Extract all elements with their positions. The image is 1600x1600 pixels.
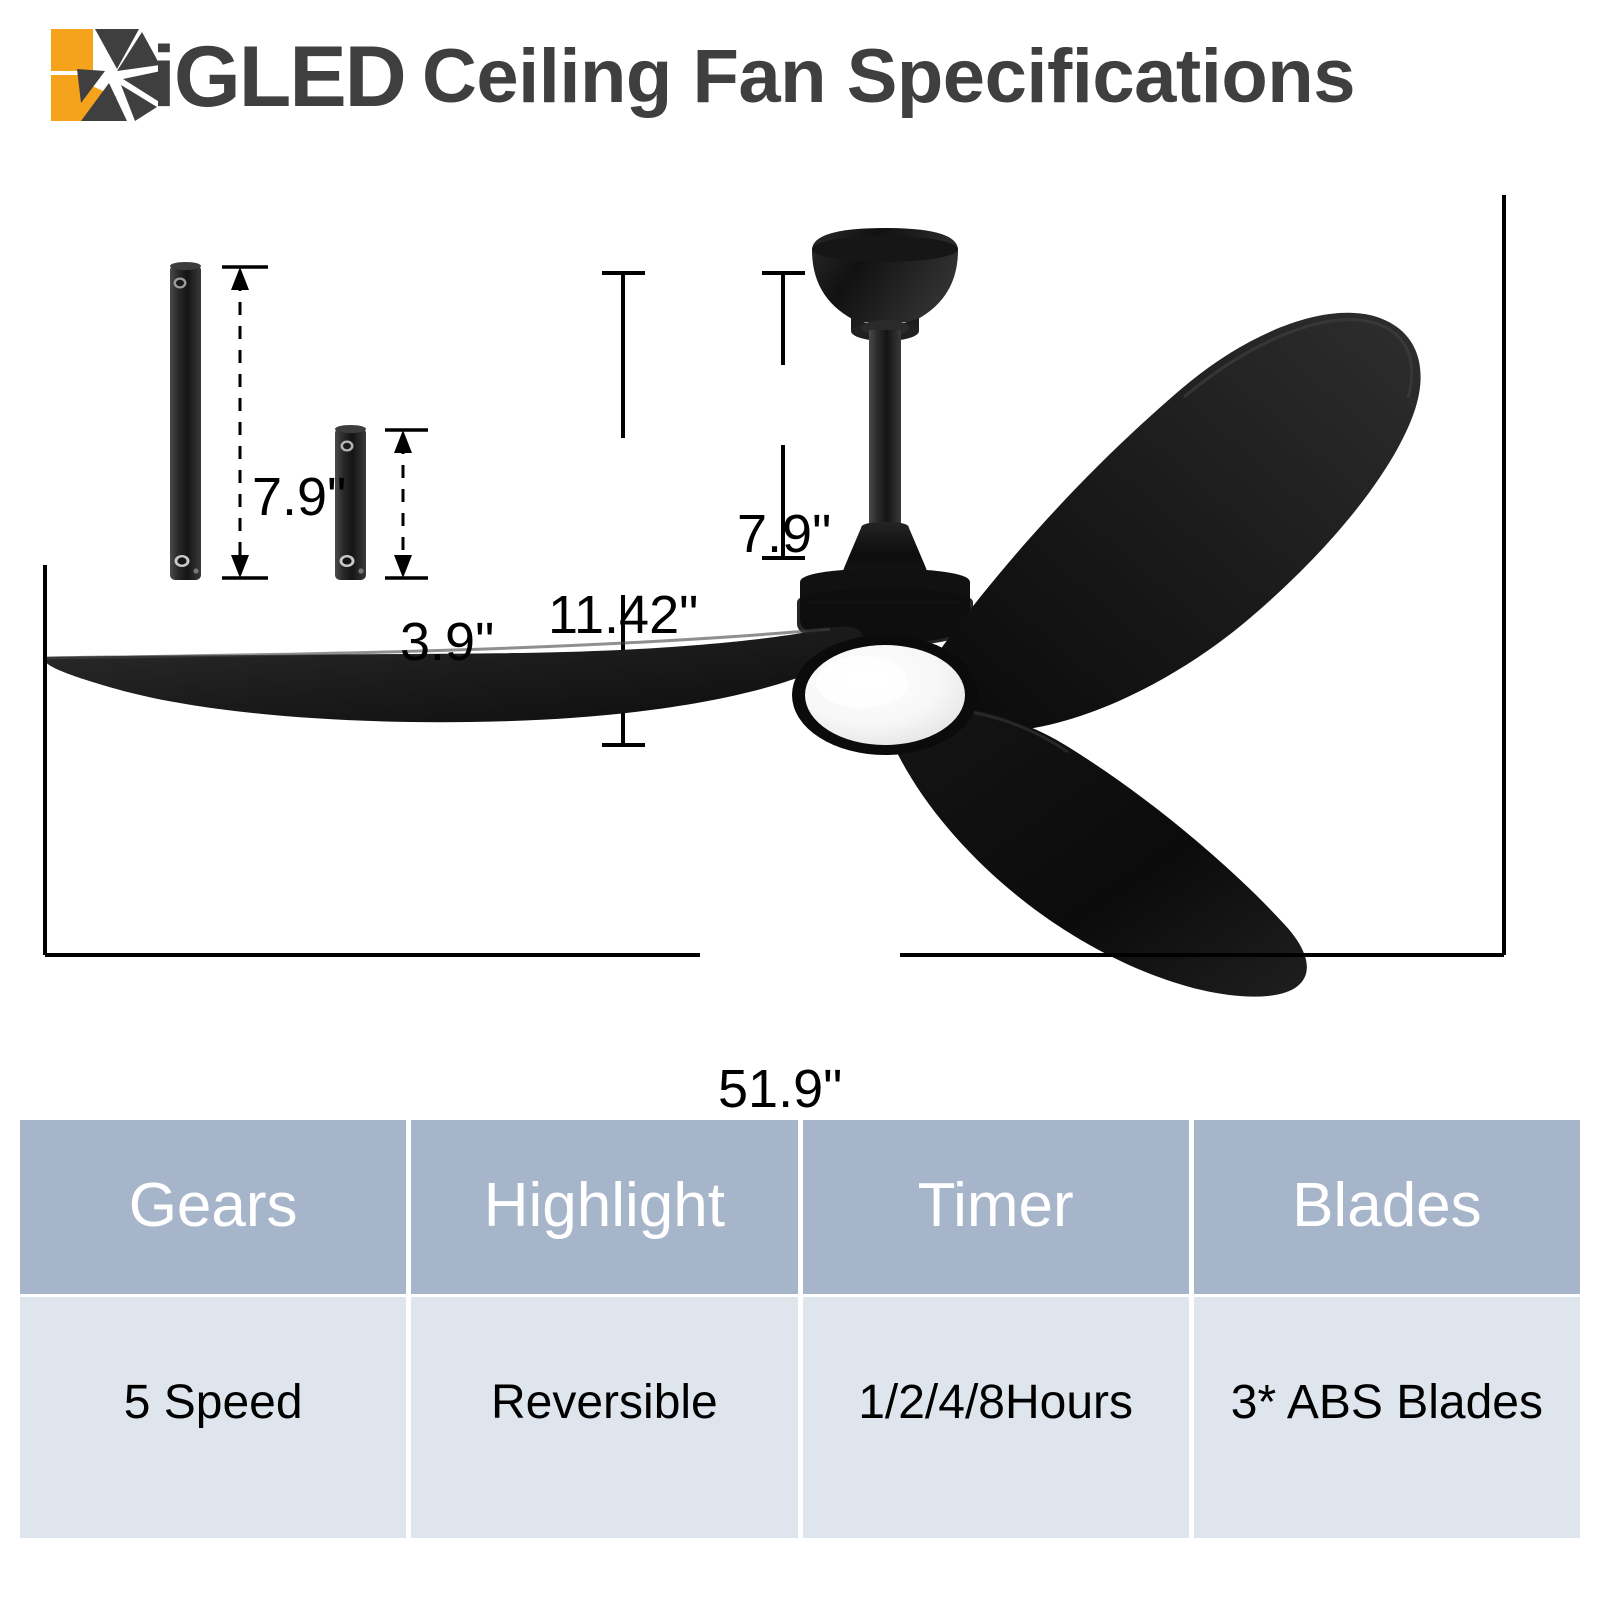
dimension-downrod-long: [222, 267, 268, 578]
page-title: Ceiling Fan Specifications: [422, 30, 1355, 124]
table-body-row: 5 Speed Reversible 1/2/4/8Hours 3* ABS B…: [20, 1297, 1580, 1538]
ceiling-canopy: [812, 228, 958, 341]
table-value-highlight: Reversible: [411, 1297, 797, 1538]
fan-blade-lower-right: [880, 706, 1307, 997]
aperture-logo-icon: [47, 25, 167, 125]
table-value-timer: 1/2/4/8Hours: [803, 1297, 1189, 1538]
table-header-blades: Blades: [1194, 1120, 1580, 1294]
dimension-label-downrod-short: 3.9": [400, 615, 494, 669]
dimension-downrod-short: [385, 430, 428, 578]
table-header-highlight: Highlight: [411, 1120, 797, 1294]
ceiling-fan-product: [44, 228, 1421, 997]
downrod-long: [170, 262, 201, 580]
table-header-gears: Gears: [20, 1120, 406, 1294]
table-header-row: Gears Highlight Timer Blades: [20, 1120, 1580, 1294]
downrod: [869, 330, 901, 535]
specification-table: Gears Highlight Timer Blades 5 Speed Rev…: [20, 1120, 1580, 1538]
table-header-timer: Timer: [803, 1120, 1189, 1294]
brand-wordmark: iGLED: [152, 30, 405, 124]
dimension-label-downrod-long: 7.9": [252, 470, 346, 524]
table-value-gears: 5 Speed: [20, 1297, 406, 1538]
dimension-label-ceiling-drop: 7.9": [737, 507, 831, 561]
fan-diagram: 7.9" 3.9" 11.42" 7.9" 51.9": [0, 150, 1600, 1080]
led-light-kit: [792, 635, 978, 755]
table-value-blades: 3* ABS Blades: [1194, 1297, 1580, 1538]
dimension-label-blade-span: 51.9": [718, 1062, 842, 1116]
dimension-label-total-height: 11.42": [548, 588, 698, 642]
fan-blade-upper-right: [940, 313, 1421, 731]
page-header: iGLED Ceiling Fan Specifications: [0, 0, 1600, 150]
